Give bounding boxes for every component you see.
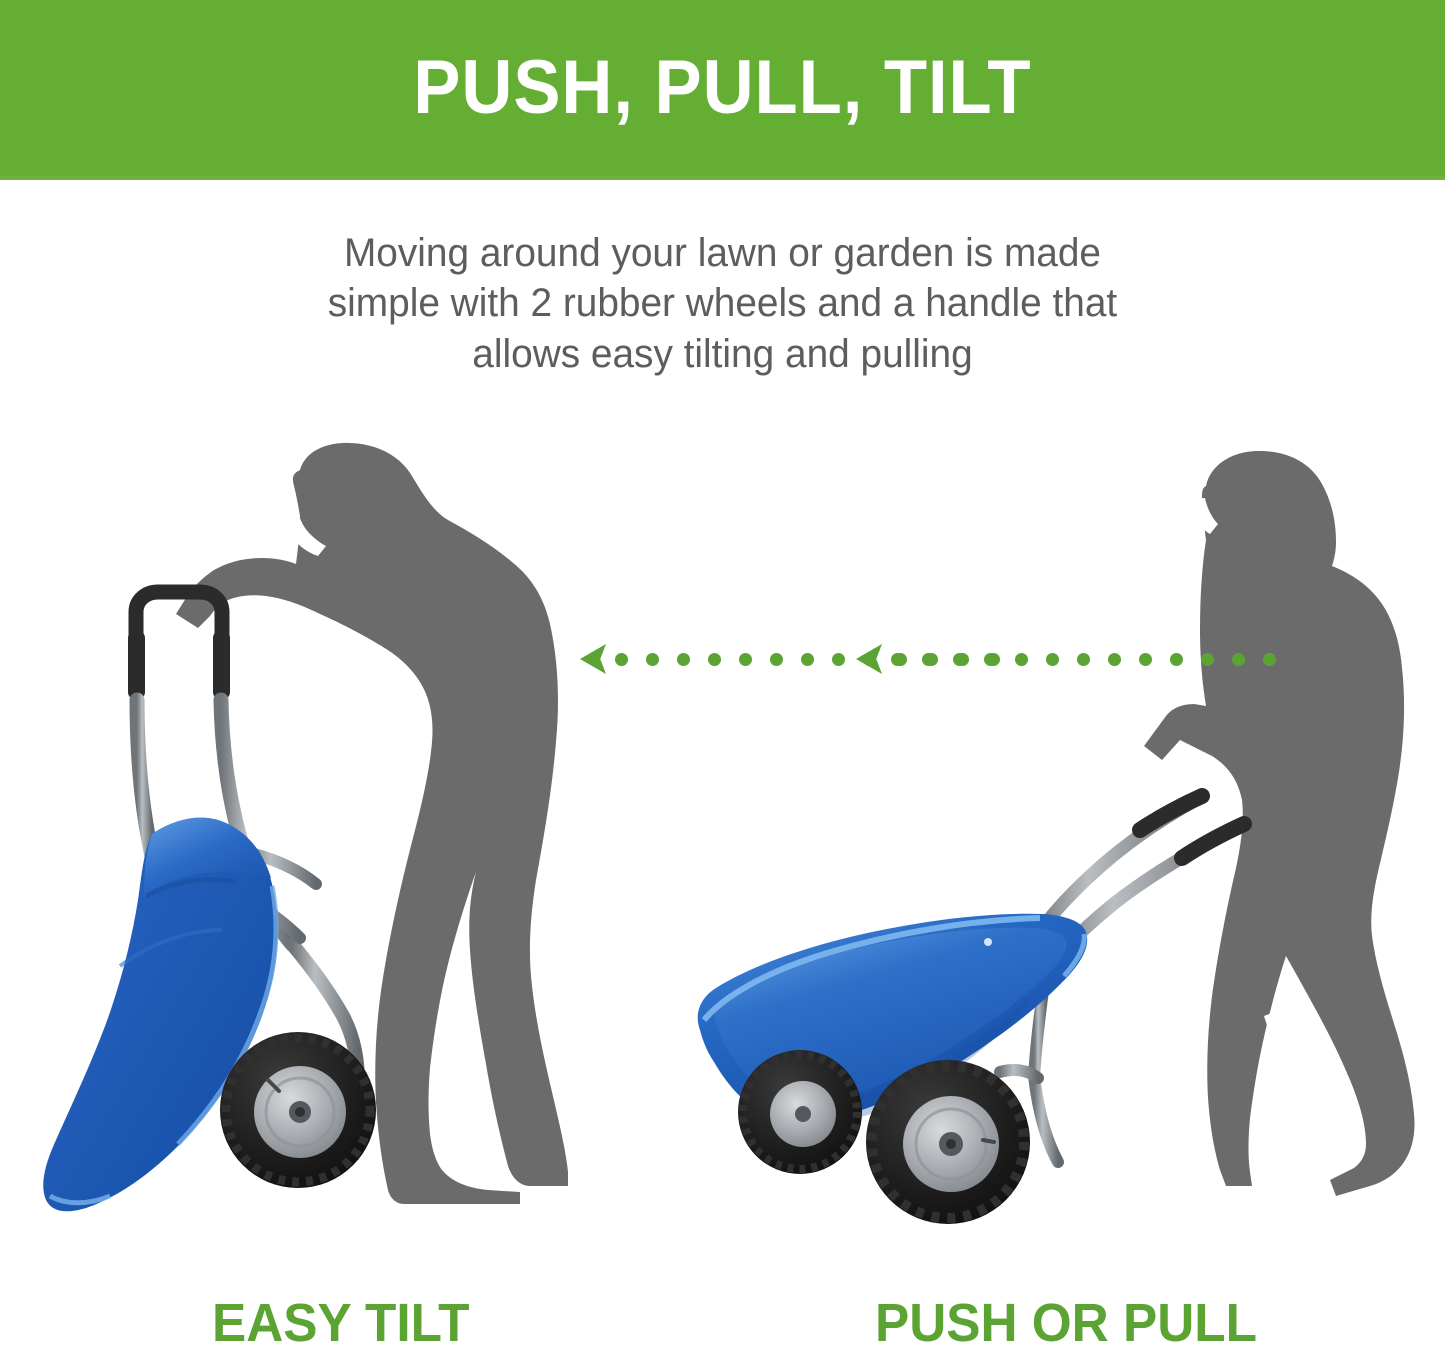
arrow-dot [922,653,935,666]
arrow-dot [801,653,814,666]
right-frame-rail-top [972,946,1030,982]
silhouette-man-pushing [1144,451,1415,1196]
right-far-tire [738,1050,862,1174]
left-hub-bolt [295,1107,305,1117]
arrow-left-icon [580,644,606,674]
right-scene-group [698,451,1415,1224]
caption-row: EASY TILT PUSH OR PULL [0,1296,1445,1366]
silhouette-man-tilting [176,443,568,1204]
right-near-valve-stem [983,1140,994,1142]
right-tub-shading [770,992,1036,1126]
left-tub-crease [146,880,236,896]
arrow-dot [1201,653,1214,666]
subtitle-text: Moving around your lawn or garden is mad… [22,228,1424,379]
subtitle-line-3: allows easy tilting and pulling [22,329,1424,379]
left-tub-bottom-edge-light [50,1196,110,1203]
right-tub-interior [715,928,1067,1104]
right-frame-rail-bottom [1034,970,1046,1076]
right-far-rim [770,1081,836,1147]
left-tire-tread [226,1038,370,1182]
left-tub-crease-2 [120,930,222,966]
infographic-page: PUSH, PULL, TILT Moving around your lawn… [0,0,1445,1366]
right-near-hub-bolt [946,1139,956,1149]
silhouette-head-detail [287,512,326,556]
right-handle-tube-upper [1030,800,1196,946]
silhouette-leg-gap-right [1264,1012,1330,1124]
direction-arrows [0,630,1445,690]
arrow-dot [1263,653,1276,666]
arrow-left-inner [856,646,1294,672]
right-handle-tube-lower [1046,828,1238,970]
right-grip-lower [1182,824,1244,858]
arrow-dot [953,653,966,666]
left-rim-inner [266,1078,334,1146]
left-frame-tube-rear [221,700,292,944]
arrow-dot [832,653,845,666]
subtitle-line-2: simple with 2 rubber wheels and a handle… [22,278,1424,328]
arrow-dot [1077,653,1090,666]
left-wheelbarrow-tub [43,818,277,1212]
silhouette-head-detail-right [1194,498,1218,534]
right-near-hub [939,1132,963,1156]
right-near-rim [903,1096,999,1192]
right-wheel-far [738,1050,862,1174]
arrow-left-icon [856,644,882,674]
arrow-dot [1139,653,1152,666]
right-far-hub [795,1106,811,1122]
arrow-dot [739,653,752,666]
caption-easy-tilt: EASY TILT [212,1296,469,1350]
caption-push-or-pull: PUSH OR PULL [875,1296,1257,1350]
right-near-rim-inner [916,1109,986,1179]
right-far-tread [743,1055,857,1169]
arrow-dot [677,653,690,666]
left-wheel [220,1032,376,1188]
left-scene-group [43,443,568,1211]
header-banner: PUSH, PULL, TILT [0,0,1445,180]
left-frame-stay [204,880,300,938]
left-tub-edge-light [178,886,276,1144]
left-hub [289,1101,311,1123]
arrow-dot [891,653,904,666]
right-grip-upper [1140,796,1202,830]
arrow-dot [770,653,783,666]
right-tub-front-lip [1064,934,1084,976]
header-band-edge [0,176,1445,180]
arrow-dot [1046,653,1059,666]
right-wheel-near [866,1060,1030,1224]
right-frame-axle-bar [1000,1070,1038,1078]
page-title: PUSH, PULL, TILT [413,50,1031,130]
left-frame-leg [292,944,358,1082]
left-frame-tube-front [137,700,152,856]
arrow-dot [1232,653,1245,666]
right-near-tire [866,1060,1030,1224]
right-tub-rim-light [704,918,1040,1020]
right-frame-leg [1034,1076,1058,1162]
left-tub-rim-highlight [144,818,271,898]
left-valve-stem [268,1080,279,1091]
arrow-dot [984,653,997,666]
right-near-tread [872,1066,1024,1218]
arrow-dot [1108,653,1121,666]
left-rim [254,1066,346,1158]
arrow-dot [646,653,659,666]
left-tire [220,1032,376,1188]
arrow-dot [615,653,628,666]
right-wheelbarrow-tub [698,914,1087,1123]
arrow-dot [708,653,721,666]
left-frame-crossbar [246,852,316,884]
subtitle-line-1: Moving around your lawn or garden is mad… [22,228,1424,278]
arrow-dot [1170,653,1183,666]
arrow-dot [1015,653,1028,666]
right-tub-drain-hole [984,938,992,946]
